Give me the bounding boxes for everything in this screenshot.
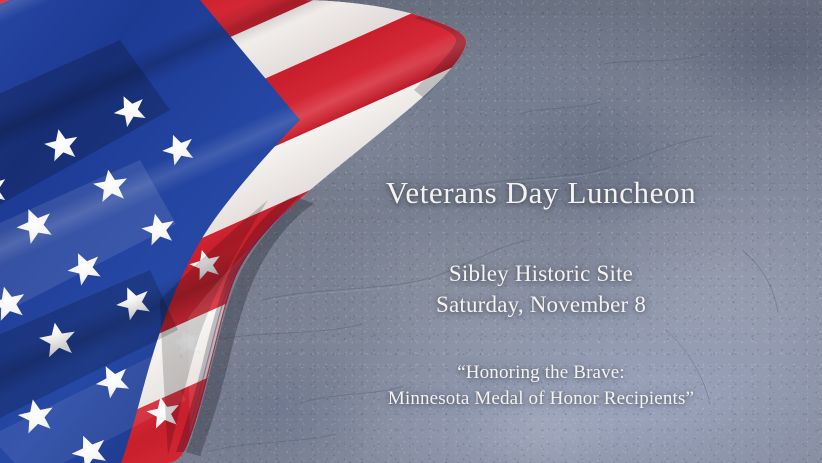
event-date: Saturday, November 8 <box>291 290 791 321</box>
event-title: Veterans Day Luncheon <box>291 176 791 210</box>
event-theme-line-1: “Honoring the Brave: <box>291 360 791 386</box>
event-theme-quote: “Honoring the Brave: Minnesota Medal of … <box>291 360 791 412</box>
event-location: Sibley Historic Site <box>291 259 791 290</box>
veterans-day-luncheon-banner: Veterans Day Luncheon Sibley Historic Si… <box>0 0 822 463</box>
event-theme-line-2: Minnesota Medal of Honor Recipients” <box>291 386 791 412</box>
event-text-block: Veterans Day Luncheon Sibley Historic Si… <box>291 176 791 413</box>
event-venue-group: Sibley Historic Site Saturday, November … <box>291 259 791 320</box>
